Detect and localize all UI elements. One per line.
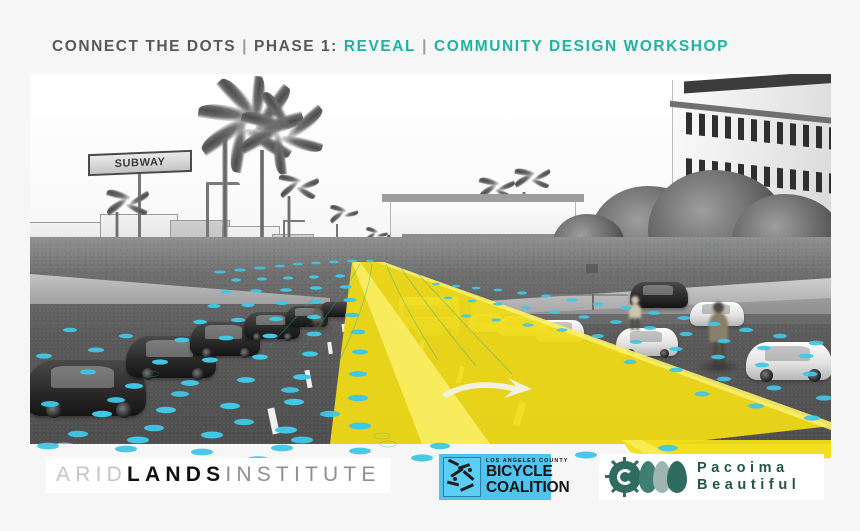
- parked-car: [746, 342, 831, 380]
- road-arrow-marking: [438, 374, 534, 408]
- bicycle-coalition-mark-icon: [443, 457, 481, 497]
- street-sign: [586, 264, 598, 273]
- title-part-1: CONNECT THE DOTS: [52, 38, 236, 56]
- labc-line-bicycle: BICYCLE: [486, 464, 569, 480]
- pedestrian-shadow: [698, 360, 740, 374]
- partner-logos: ARID LANDS INSTITUTE LOS ANGELES COUNTY …: [30, 452, 831, 514]
- lane-dash: [350, 312, 352, 317]
- labc-line-coalition: COALITION: [486, 480, 569, 496]
- title-part-2: PHASE 1:: [254, 38, 338, 56]
- page-title: CONNECT THE DOTS | PHASE 1: REVEAL | COM…: [52, 34, 729, 60]
- ali-word-lands: LANDS: [127, 463, 225, 487]
- logo-pacoima-beautiful[interactable]: Pacoima Beautiful: [599, 454, 824, 500]
- pacoima-sun-wave-icon: [605, 457, 693, 497]
- parked-car: [616, 328, 678, 356]
- pedestrian: [627, 296, 643, 330]
- sign-post: [592, 270, 594, 310]
- ali-word-arid: ARID: [56, 463, 127, 487]
- title-separator-2: |: [422, 38, 428, 56]
- fence-railing: [550, 294, 628, 310]
- poster-root: CONNECT THE DOTS | PHASE 1: REVEAL | COM…: [0, 0, 860, 531]
- logo-la-county-bicycle-coalition[interactable]: LOS ANGELES COUNTY BICYCLE COALITION: [439, 454, 551, 500]
- pacoima-line-2: Beautiful: [697, 477, 800, 494]
- logo-arid-lands-institute[interactable]: ARID LANDS INSTITUTE: [46, 458, 391, 493]
- title-part-3: COMMUNITY DESIGN WORKSHOP: [434, 38, 729, 56]
- parked-car: [536, 320, 584, 342]
- center-building-roof: [382, 194, 584, 202]
- bicycle: [306, 322, 332, 334]
- title-separator-1: |: [242, 38, 248, 56]
- parked-car: [498, 316, 540, 336]
- pedestrian: [706, 302, 730, 364]
- street-rendering-image: SUBWAY FOR SALE: [30, 74, 831, 444]
- lane-dash: [382, 310, 384, 315]
- bus: [398, 296, 460, 336]
- pacoima-line-1: Pacoima: [697, 460, 800, 477]
- ali-word-institute: INSTITUTE: [225, 463, 380, 487]
- title-highlight-reveal: REVEAL: [344, 38, 416, 56]
